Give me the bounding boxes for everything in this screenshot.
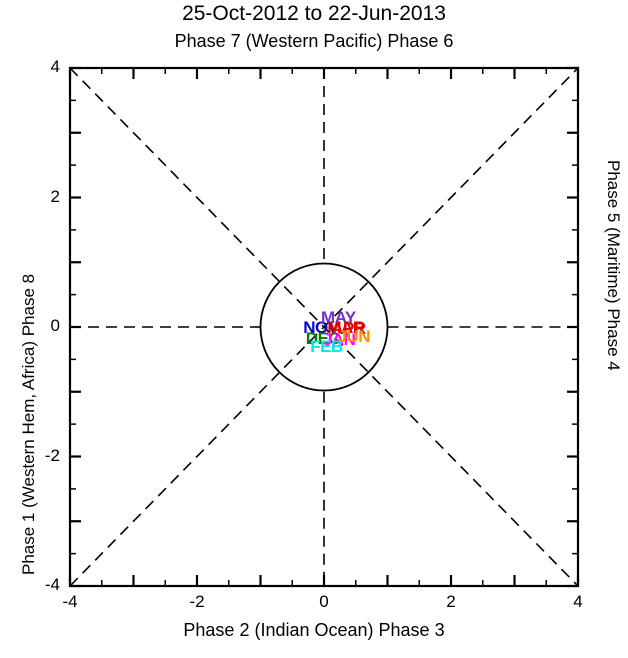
y-tick-label: -2 (4, 446, 60, 466)
x-tick-label: -4 (40, 592, 100, 612)
y-tick-label: 2 (4, 187, 60, 207)
month-marker-feb: FEB (310, 337, 343, 357)
y-tick-label: 4 (4, 57, 60, 77)
x-tick-label: -2 (167, 592, 227, 612)
x-tick-label: 0 (294, 592, 354, 612)
y-tick-label: 0 (4, 316, 60, 336)
x-tick-label: 4 (548, 592, 608, 612)
mjo-phase-diagram: -4-2024-4-2024NOVMARMAYAPRDECJANJUNFEB (0, 0, 628, 653)
x-tick-label: 2 (421, 592, 481, 612)
y-tick-label: -4 (4, 575, 60, 595)
